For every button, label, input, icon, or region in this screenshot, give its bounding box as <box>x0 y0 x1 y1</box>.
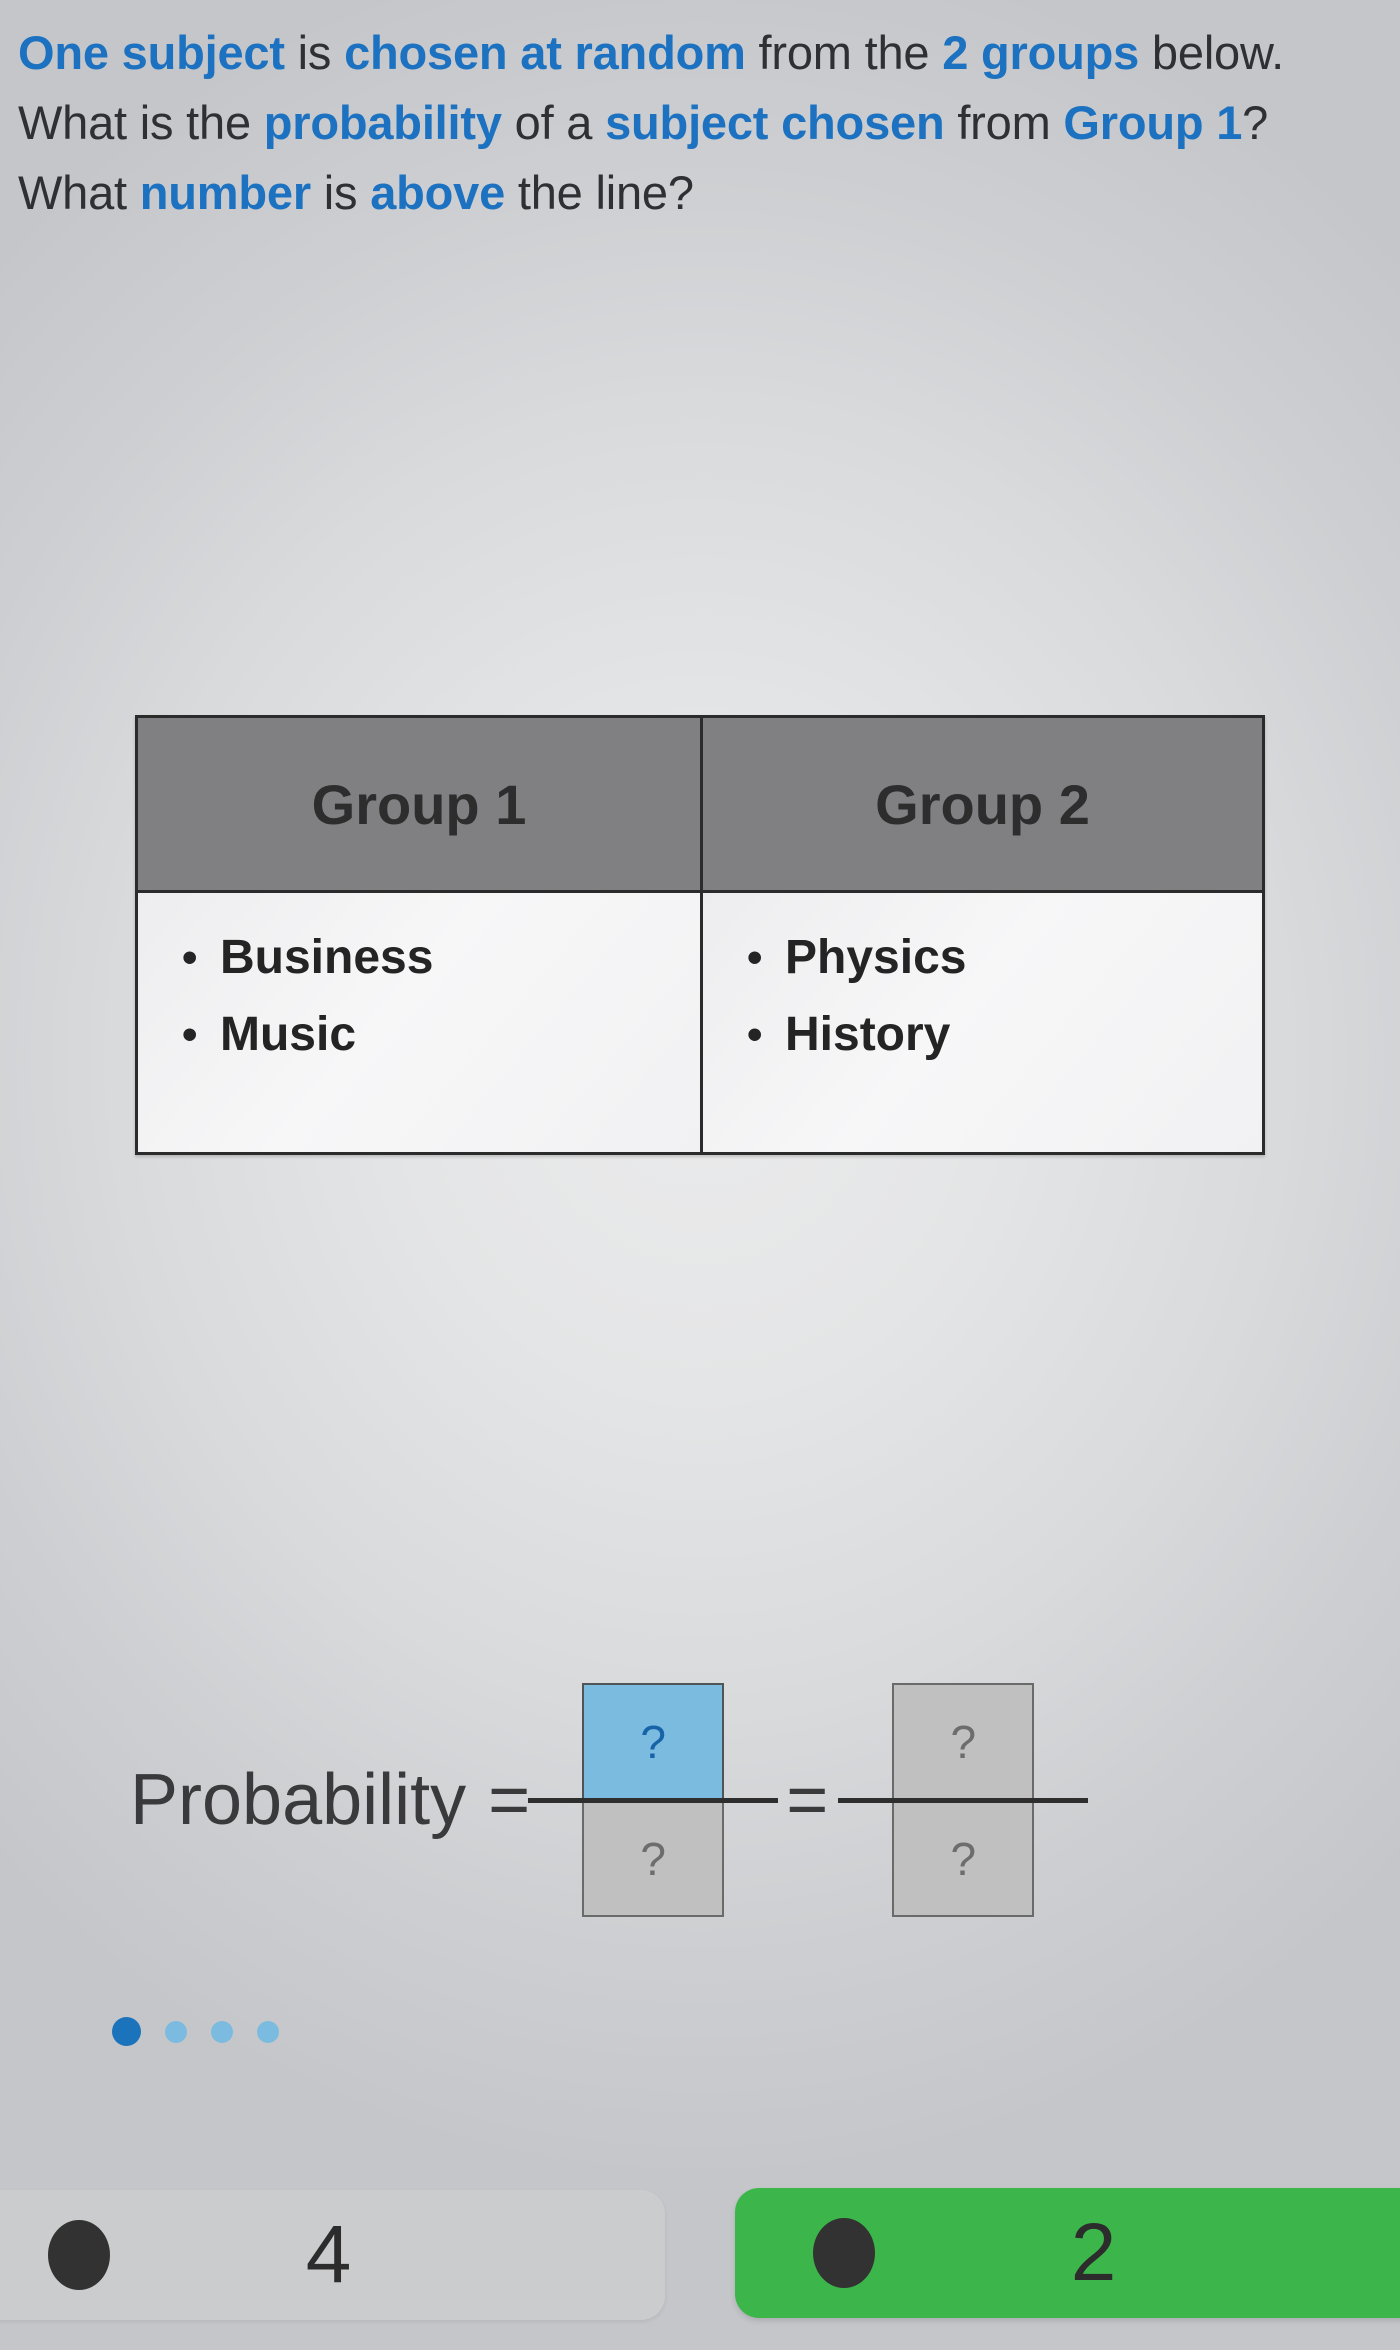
prompt-segment: subject chosen <box>605 96 944 149</box>
table-header-group-1: Group 1 <box>138 718 700 890</box>
progress-dot[interactable] <box>165 2021 187 2043</box>
prompt-segment: is <box>285 26 344 79</box>
groups-table: Group 1 Group 2 Business Music Physics H… <box>135 715 1265 1155</box>
fraction-1: ? ? <box>558 1660 748 1940</box>
prompt-segment: Group 1 <box>1063 96 1242 149</box>
list-item: History <box>785 996 1262 1073</box>
prompt-segment: is <box>311 166 370 219</box>
prompt-segment: number <box>140 166 311 219</box>
progress-dot[interactable] <box>257 2021 279 2043</box>
answer-button-label: 2 <box>875 2212 1312 2294</box>
bullet-icon <box>813 2218 875 2288</box>
app-root: One subject is chosen at random from the… <box>0 0 1400 2350</box>
table-cell-group-2: Physics History <box>700 893 1262 1152</box>
fraction-2-numerator[interactable]: ? <box>892 1683 1034 1800</box>
answer-button-2[interactable]: 2 <box>735 2188 1400 2318</box>
prompt-segment: probability <box>264 96 502 149</box>
equals-sign-2: = <box>786 1764 828 1836</box>
list-item: Music <box>220 996 700 1073</box>
table-header-row: Group 1 Group 2 <box>138 718 1262 893</box>
prompt-segment: above <box>370 166 505 219</box>
table-cell-group-1: Business Music <box>138 893 700 1152</box>
list-item: Business <box>220 919 700 996</box>
question-prompt: One subject is chosen at random from the… <box>18 18 1378 228</box>
fraction-2: ? ? <box>868 1660 1058 1940</box>
list-item: Physics <box>785 919 1262 996</box>
table-body-row: Business Music Physics History <box>138 893 1262 1152</box>
prompt-segment: from <box>944 96 1063 149</box>
table-header-group-2: Group 2 <box>700 718 1262 890</box>
bullet-icon <box>48 2220 110 2290</box>
prompt-segment: chosen at random <box>344 26 746 79</box>
probability-equation: Probability = ? ? = ? ? <box>130 1660 1270 1940</box>
prompt-segment: 2 groups <box>942 26 1139 79</box>
fraction-2-denominator[interactable]: ? <box>892 1800 1034 1917</box>
fraction-1-numerator[interactable]: ? <box>582 1683 724 1800</box>
fraction-1-bar <box>528 1798 778 1803</box>
group-2-list: Physics History <box>741 919 1262 1073</box>
progress-dot-active[interactable] <box>112 2017 141 2046</box>
prompt-segment: from the <box>746 26 943 79</box>
equals-sign-1: = <box>488 1764 530 1836</box>
probability-label: Probability <box>130 1764 466 1836</box>
fraction-1-denominator[interactable]: ? <box>582 1800 724 1917</box>
answer-button-label: 4 <box>110 2214 547 2296</box>
fraction-2-bar <box>838 1798 1088 1803</box>
answer-button-4[interactable]: 4 <box>0 2190 665 2320</box>
prompt-segment: the line? <box>505 166 694 219</box>
progress-dot[interactable] <box>211 2021 233 2043</box>
prompt-segment: One subject <box>18 26 285 79</box>
group-1-list: Business Music <box>176 919 700 1073</box>
prompt-segment: of a <box>502 96 605 149</box>
progress-dots <box>112 2017 279 2046</box>
